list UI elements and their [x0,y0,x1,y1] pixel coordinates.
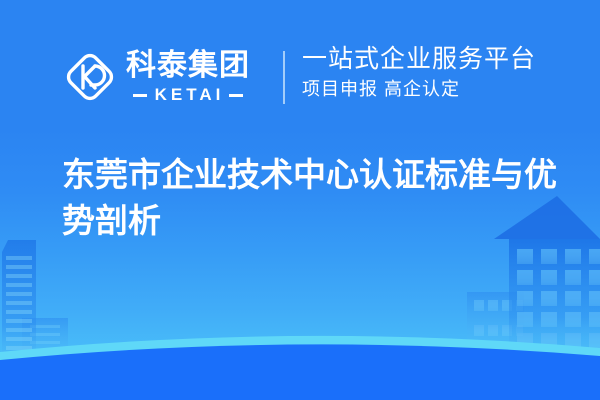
logo-company-cn: 科泰集团 [126,49,250,83]
left-tower [2,240,36,362]
page-title: 东莞市企业技术中心认证标准与优势剖析 [62,152,562,244]
tagline-block: 一站式企业服务平台 项目申报 高企认定 [302,44,572,101]
tagline-main: 一站式企业服务平台 [302,44,572,74]
promo-banner: 科泰集团 KETAI 一站式企业服务平台 项目申报 高企认定 东莞市企业技术中心… [0,0,600,400]
logo-en-row: KETAI [126,85,250,105]
dash-icon [229,94,243,97]
logo-company-en: KETAI [147,86,230,104]
logo-wordmark: 科泰集团 KETAI [126,46,250,108]
vertical-divider-icon [283,51,285,104]
tagline-sub: 项目申报 高企认定 [302,77,572,101]
brand-lockup: 科泰集团 KETAI [62,44,250,110]
ketai-diamond-kp-monogram-icon [62,49,118,105]
dash-icon [133,94,147,97]
